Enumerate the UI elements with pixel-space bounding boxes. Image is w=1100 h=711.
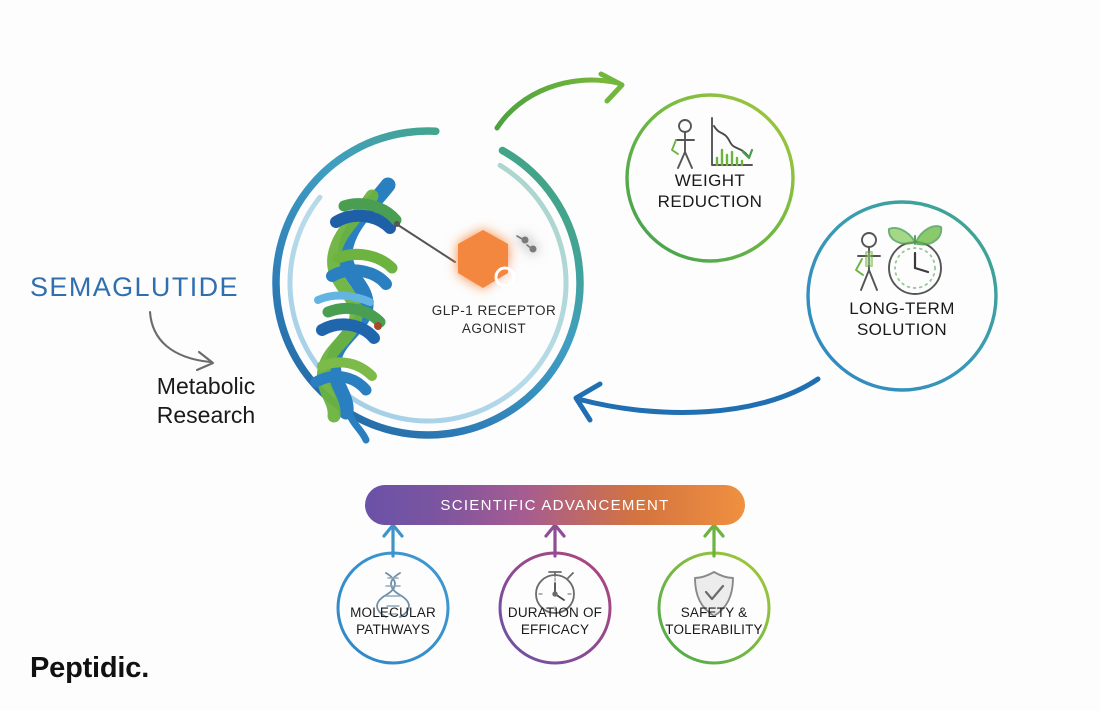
center-node-label: GLP-1 RECEPTOR AGONIST [404, 302, 584, 337]
scientific-advancement-banner: SCIENTIFIC ADVANCEMENT [365, 485, 745, 525]
infographic-canvas: SEMAGLUTIDE Metabolic Research Peptidic. [0, 0, 1100, 711]
center-node-label-line1: GLP-1 RECEPTOR [404, 302, 584, 320]
center-node-label-line2: AGONIST [404, 320, 584, 338]
dna-helix-icon [377, 573, 409, 617]
shield-check-icon [695, 572, 733, 616]
node-icons-layer [0, 0, 1100, 711]
stopwatch-icon [536, 572, 574, 613]
banner-label: SCIENTIFIC ADVANCEMENT [440, 497, 669, 514]
person-clock-leaf-icon [856, 226, 941, 294]
person-declining-chart-icon [672, 118, 752, 168]
